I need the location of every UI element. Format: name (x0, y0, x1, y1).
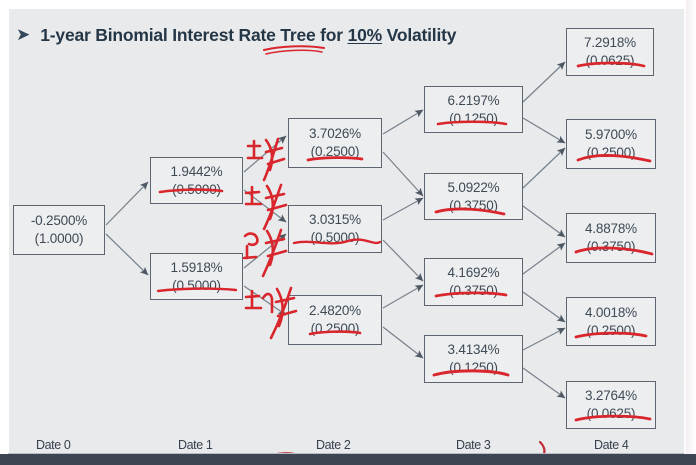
node-rate: 6.2197% (448, 92, 500, 110)
node-rate: 7.2918% (584, 34, 636, 52)
node-rate: 4.1692% (448, 264, 500, 282)
tree-node[interactable]: 4.0018% (0.2500) (566, 297, 656, 346)
tree-node[interactable]: 3.2764% (0.0625) (566, 381, 656, 429)
node-rate: 1.5918% (171, 259, 223, 277)
axis-label-date-1: Date 1 (178, 438, 212, 452)
tree-node[interactable]: 6.2197% (0.1250) (424, 86, 523, 133)
node-probability: (0.1250) (449, 110, 498, 128)
tree-node[interactable]: 4.1692% (0.3750) (424, 258, 523, 306)
footer-bar (0, 454, 696, 465)
tree-node[interactable]: 2.4820% (0.2500) (288, 295, 382, 345)
node-rate: 2.4820% (309, 302, 361, 320)
tree-node[interactable]: 1.5918% (0.5000) (150, 253, 243, 300)
node-rate: 4.0018% (585, 304, 637, 322)
tree-node[interactable]: 3.0315% (0.5000) (288, 205, 382, 253)
node-rate: 5.0922% (448, 179, 500, 197)
axis-label-date-2: Date 2 (316, 438, 350, 452)
node-rate: 5.9700% (585, 126, 637, 144)
node-probability: (1.0000) (35, 230, 84, 248)
node-probability: (0.5000) (172, 181, 221, 199)
node-probability: (0.3750) (449, 197, 498, 215)
axis-label-date-0: Date 0 (36, 438, 70, 452)
node-probability: (0.3750) (449, 282, 498, 300)
node-rate: 1.9442% (171, 163, 223, 181)
tree-node[interactable]: 5.9700% (0.2500) (566, 119, 656, 169)
node-probability: (0.1250) (449, 359, 498, 377)
node-probability: (0.0625) (586, 52, 635, 70)
node-probability: (0.2500) (587, 144, 636, 162)
node-probability: (0.2500) (311, 320, 360, 338)
tree-node[interactable]: 3.7026% (0.2500) (288, 118, 382, 168)
node-probability: (0.3750) (587, 238, 636, 256)
slide-screenshot: ➤ 1-year Binomial Interest Rate Tree for… (0, 0, 696, 465)
node-probability: (0.5000) (311, 229, 360, 247)
node-rate: 4.8878% (585, 220, 637, 238)
node-probability: (0.5000) (172, 277, 221, 295)
node-rate: -0.2500% (31, 212, 87, 230)
node-rate: 3.4134% (448, 341, 500, 359)
axis-label-date-4: Date 4 (594, 438, 628, 452)
node-probability: (0.0625) (587, 405, 636, 423)
node-probability: (0.2500) (587, 322, 636, 340)
tree-node[interactable]: 1.9442% (0.5000) (150, 157, 243, 204)
tree-node[interactable]: 4.8878% (0.3750) (566, 213, 656, 263)
tree-node[interactable]: -0.2500% (1.0000) (13, 205, 105, 255)
axis-label-date-3: Date 3 (456, 438, 490, 452)
node-probability: (0.2500) (311, 143, 360, 161)
tree-node[interactable]: 5.0922% (0.3750) (424, 173, 523, 220)
node-rate: 3.7026% (309, 125, 361, 143)
node-rate: 3.2764% (585, 387, 637, 405)
tree-node[interactable]: 7.2918% (0.0625) (566, 28, 654, 76)
node-rate: 3.0315% (309, 211, 361, 229)
tree-node[interactable]: 3.4134% (0.1250) (424, 335, 523, 383)
